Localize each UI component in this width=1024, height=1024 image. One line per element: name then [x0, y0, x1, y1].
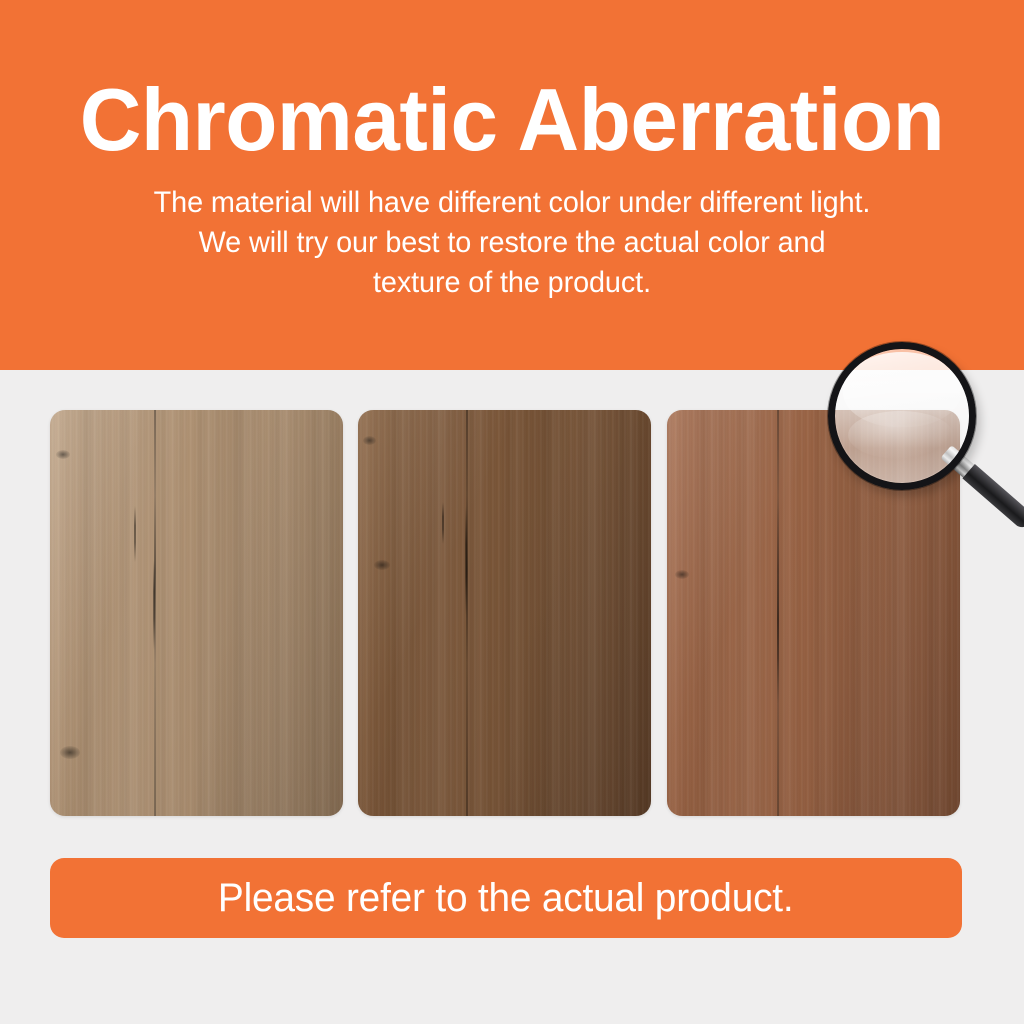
footer-banner-text: Please refer to the actual product. [218, 876, 794, 920]
walnut-swatch[interactable] [358, 410, 651, 816]
wood-texture [50, 410, 343, 816]
cherry-swatch[interactable] [667, 410, 960, 816]
footer-banner: Please refer to the actual product. [50, 858, 962, 938]
wood-texture [667, 410, 960, 816]
wood-shading [50, 410, 343, 816]
wood-shading [358, 410, 651, 816]
wood-shading [667, 410, 960, 816]
wood-texture [358, 410, 651, 816]
light-oak-swatch[interactable] [50, 410, 343, 816]
infographic-page: Chromatic Aberration The material will h… [0, 0, 1024, 1024]
